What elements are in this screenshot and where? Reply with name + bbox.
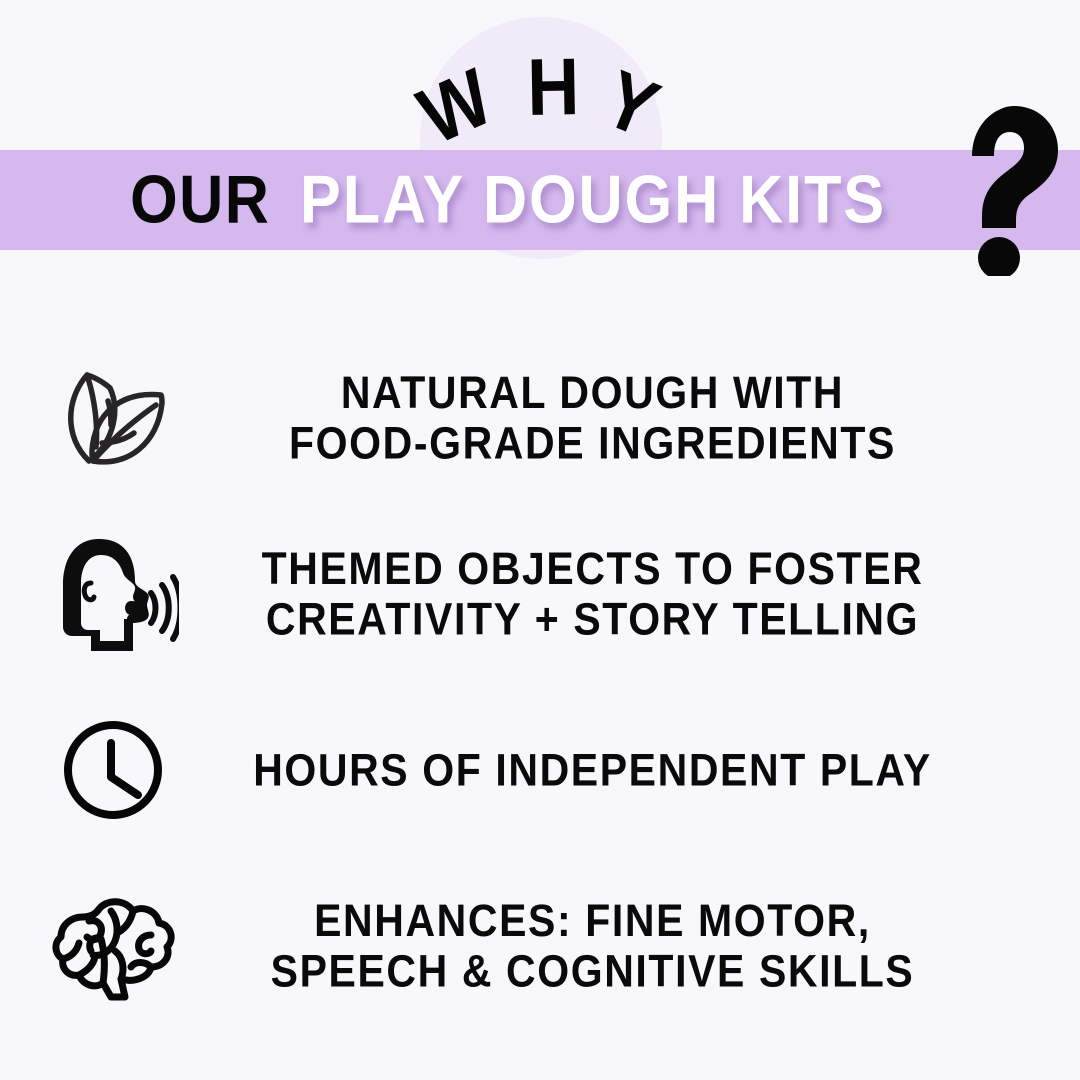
banner-title-product: PLAY DOUGH KITS <box>300 166 886 234</box>
why-letter-w: W <box>408 57 503 158</box>
feature-text: NATURAL DOUGH WITH FOOD-GRADE INGREDIENT… <box>225 367 1080 469</box>
feature-text: ENHANCES: FINE MOTOR, SPEECH & COGNITIVE… <box>225 895 1080 997</box>
feature-line: THEMED OBJECTS TO FOSTER <box>225 543 960 594</box>
why-letter-y: Y <box>594 58 669 151</box>
banner-title: OUR PLAY DOUGH KITS <box>0 150 1080 250</box>
why-letter-h: H <box>527 47 580 129</box>
feature-row: ENHANCES: FINE MOTOR, SPEECH & COGNITIVE… <box>0 858 1080 1034</box>
feature-text: HOURS OF INDEPENDENT PLAY <box>225 745 1080 796</box>
speaking-head-icon <box>0 531 225 657</box>
question-mark-icon <box>952 96 1072 276</box>
brain-icon <box>0 887 225 1005</box>
promo-poster: W H Y OUR PLAY DOUGH KITS <box>0 0 1080 1080</box>
feature-line: FOOD-GRADE INGREDIENTS <box>225 418 960 469</box>
clock-icon <box>0 715 225 825</box>
feature-row: NATURAL DOUGH WITH FOOD-GRADE INGREDIENT… <box>0 330 1080 506</box>
banner-title-our: OUR <box>130 166 270 234</box>
leaves-icon <box>0 355 225 481</box>
feature-row: HOURS OF INDEPENDENT PLAY <box>0 682 1080 858</box>
feature-line: SPEECH & COGNITIVE SKILLS <box>225 946 960 997</box>
feature-text: THEMED OBJECTS TO FOSTER CREATIVITY + ST… <box>225 543 1080 645</box>
feature-list: NATURAL DOUGH WITH FOOD-GRADE INGREDIENT… <box>0 330 1080 1034</box>
why-arched-text: W H Y <box>420 30 662 150</box>
feature-line: NATURAL DOUGH WITH <box>225 367 960 418</box>
feature-line: CREATIVITY + STORY TELLING <box>225 594 960 645</box>
feature-row: THEMED OBJECTS TO FOSTER CREATIVITY + ST… <box>0 506 1080 682</box>
feature-line: HOURS OF INDEPENDENT PLAY <box>225 745 960 796</box>
feature-line: ENHANCES: FINE MOTOR, <box>225 895 960 946</box>
